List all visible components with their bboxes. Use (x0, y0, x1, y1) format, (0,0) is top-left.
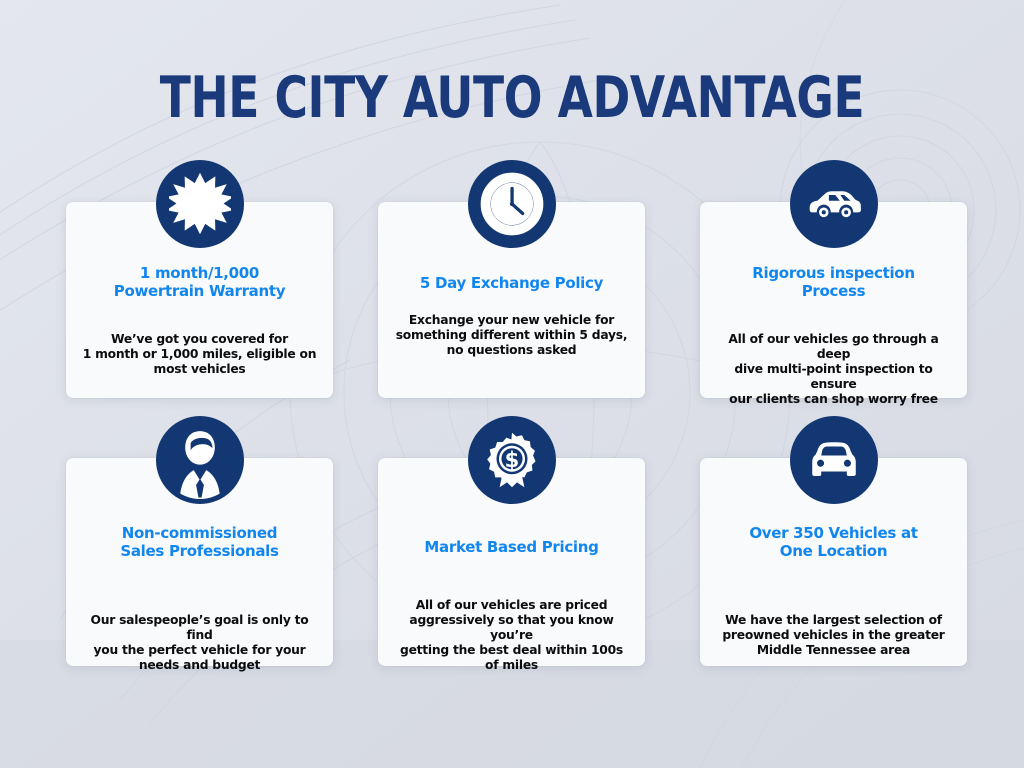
card-heading: Rigorous inspection Process (714, 264, 953, 300)
card-heading-line1: 5 Day Exchange Policy (420, 274, 603, 292)
card-description: All of our vehicles are priced aggressiv… (392, 598, 631, 673)
svg-text:$: $ (504, 447, 519, 472)
card-desc-line1: All of our vehicles are priced (416, 598, 608, 612)
card-desc-line3: getting the best deal within 100s of mil… (400, 643, 623, 672)
card-desc-line1: Exchange your new vehicle for (409, 313, 614, 327)
advantage-card-inspection-process[interactable]: Rigorous inspection Process All of our v… (700, 202, 967, 398)
card-heading: Market Based Pricing (392, 538, 631, 556)
advantage-card-market-based-pricing[interactable]: $ Market Based Pricing All of our vehicl… (378, 458, 645, 666)
card-heading: Over 350 Vehicles at One Location (714, 524, 953, 560)
card-desc-line2: you the perfect vehicle for your (94, 643, 306, 657)
card-description: We have the largest selection of preowne… (714, 613, 953, 658)
card-desc-line1: We’ve got you covered for (111, 332, 288, 346)
clock-icon (468, 160, 556, 248)
card-desc-line2: preowned vehicles in the greater (722, 628, 944, 642)
card-heading-line2: Powertrain Warranty (114, 282, 285, 300)
card-desc-line2: dive multi-point inspection to ensure (734, 362, 932, 391)
card-desc-line1: We have the largest selection of (725, 613, 942, 627)
card-heading: 5 Day Exchange Policy (392, 274, 631, 292)
card-desc-line2: 1 month or 1,000 miles, eligible on (83, 347, 316, 361)
salesperson-icon (156, 416, 244, 504)
advantage-card-powertrain-warranty[interactable]: 1 month/1,000 Powertrain Warranty We’ve … (66, 202, 333, 398)
page-title-container: THE CITY AUTO ADVANTAGE (0, 68, 1024, 128)
card-heading-line1: Market Based Pricing (424, 538, 598, 556)
card-description: All of our vehicles go through a deep di… (714, 332, 953, 407)
card-desc-line3: needs and budget (139, 658, 260, 672)
car-side-icon (790, 160, 878, 248)
card-desc-line3: Middle Tennessee area (757, 643, 910, 657)
card-description: Our salespeople’s goal is only to find y… (80, 613, 319, 673)
card-heading-line2: Process (802, 282, 866, 300)
card-desc-line3: no questions asked (447, 343, 577, 357)
card-heading-line1: Non-commissioned (122, 524, 277, 542)
card-heading-line2: One Location (780, 542, 887, 560)
card-heading-line1: Over 350 Vehicles at (749, 524, 917, 542)
card-heading-line1: Rigorous inspection (752, 264, 914, 282)
starburst-icon (156, 160, 244, 248)
card-heading: 1 month/1,000 Powertrain Warranty (80, 264, 319, 300)
card-heading-line1: 1 month/1,000 (140, 264, 259, 282)
card-desc-line1: Our salespeople’s goal is only to find (91, 613, 309, 642)
car-front-icon (790, 416, 878, 504)
card-desc-line2: something different within 5 days, (396, 328, 628, 342)
advantage-card-inventory-size[interactable]: Over 350 Vehicles at One Location We hav… (700, 458, 967, 666)
advantage-card-exchange-policy[interactable]: 5 Day Exchange Policy Exchange your new … (378, 202, 645, 398)
card-heading-line2: Sales Professionals (120, 542, 278, 560)
card-desc-line3: most vehicles (154, 362, 246, 376)
dollar-badge-icon: $ (468, 416, 556, 504)
card-description: Exchange your new vehicle for something … (392, 313, 631, 358)
card-description: We’ve got you covered for 1 month or 1,0… (80, 332, 319, 377)
advantage-card-non-commissioned-sales[interactable]: Non-commissioned Sales Professionals Our… (66, 458, 333, 666)
card-desc-line2: aggressively so that you know you’re (409, 613, 613, 642)
card-heading: Non-commissioned Sales Professionals (80, 524, 319, 560)
card-desc-line3: our clients can shop worry free (729, 392, 938, 406)
card-desc-line1: All of our vehicles go through a deep (728, 332, 938, 361)
page-title: THE CITY AUTO ADVANTAGE (102, 68, 921, 128)
